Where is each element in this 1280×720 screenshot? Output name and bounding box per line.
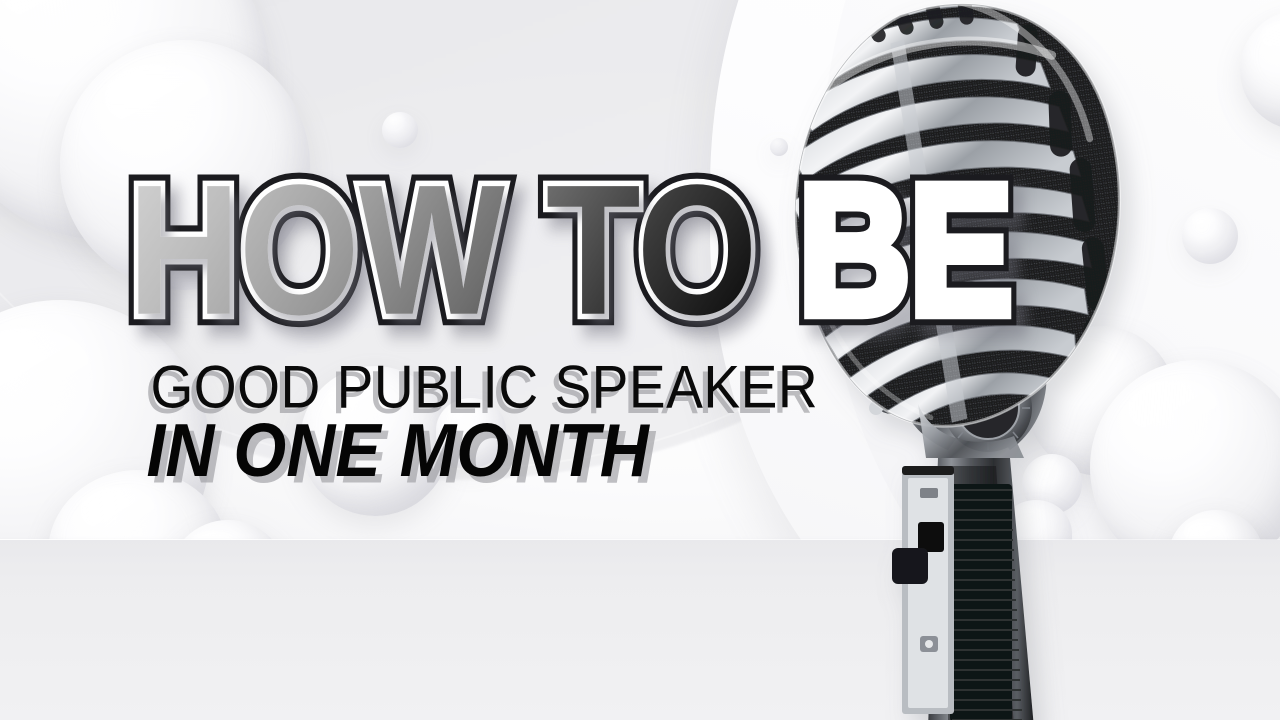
headline-stack: HOW TO BE HOW TO BE HOW TO BE	[128, 160, 768, 356]
title-block: HOW TO BE HOW TO BE HOW TO BE GOOD PUBLI…	[128, 160, 768, 479]
stand-ribs	[950, 484, 1022, 720]
stand-clamp	[892, 466, 954, 714]
sphere-right-egg	[1182, 208, 1238, 264]
thumbnail-canvas: HOW TO BE HOW TO BE HOW TO BE GOOD PUBLI…	[0, 0, 1280, 720]
headline-text: HOW TO BE	[128, 160, 781, 342]
sphere-small-centre	[382, 112, 418, 148]
subheadline-italic-text: IN ONE MONTH	[128, 412, 787, 489]
